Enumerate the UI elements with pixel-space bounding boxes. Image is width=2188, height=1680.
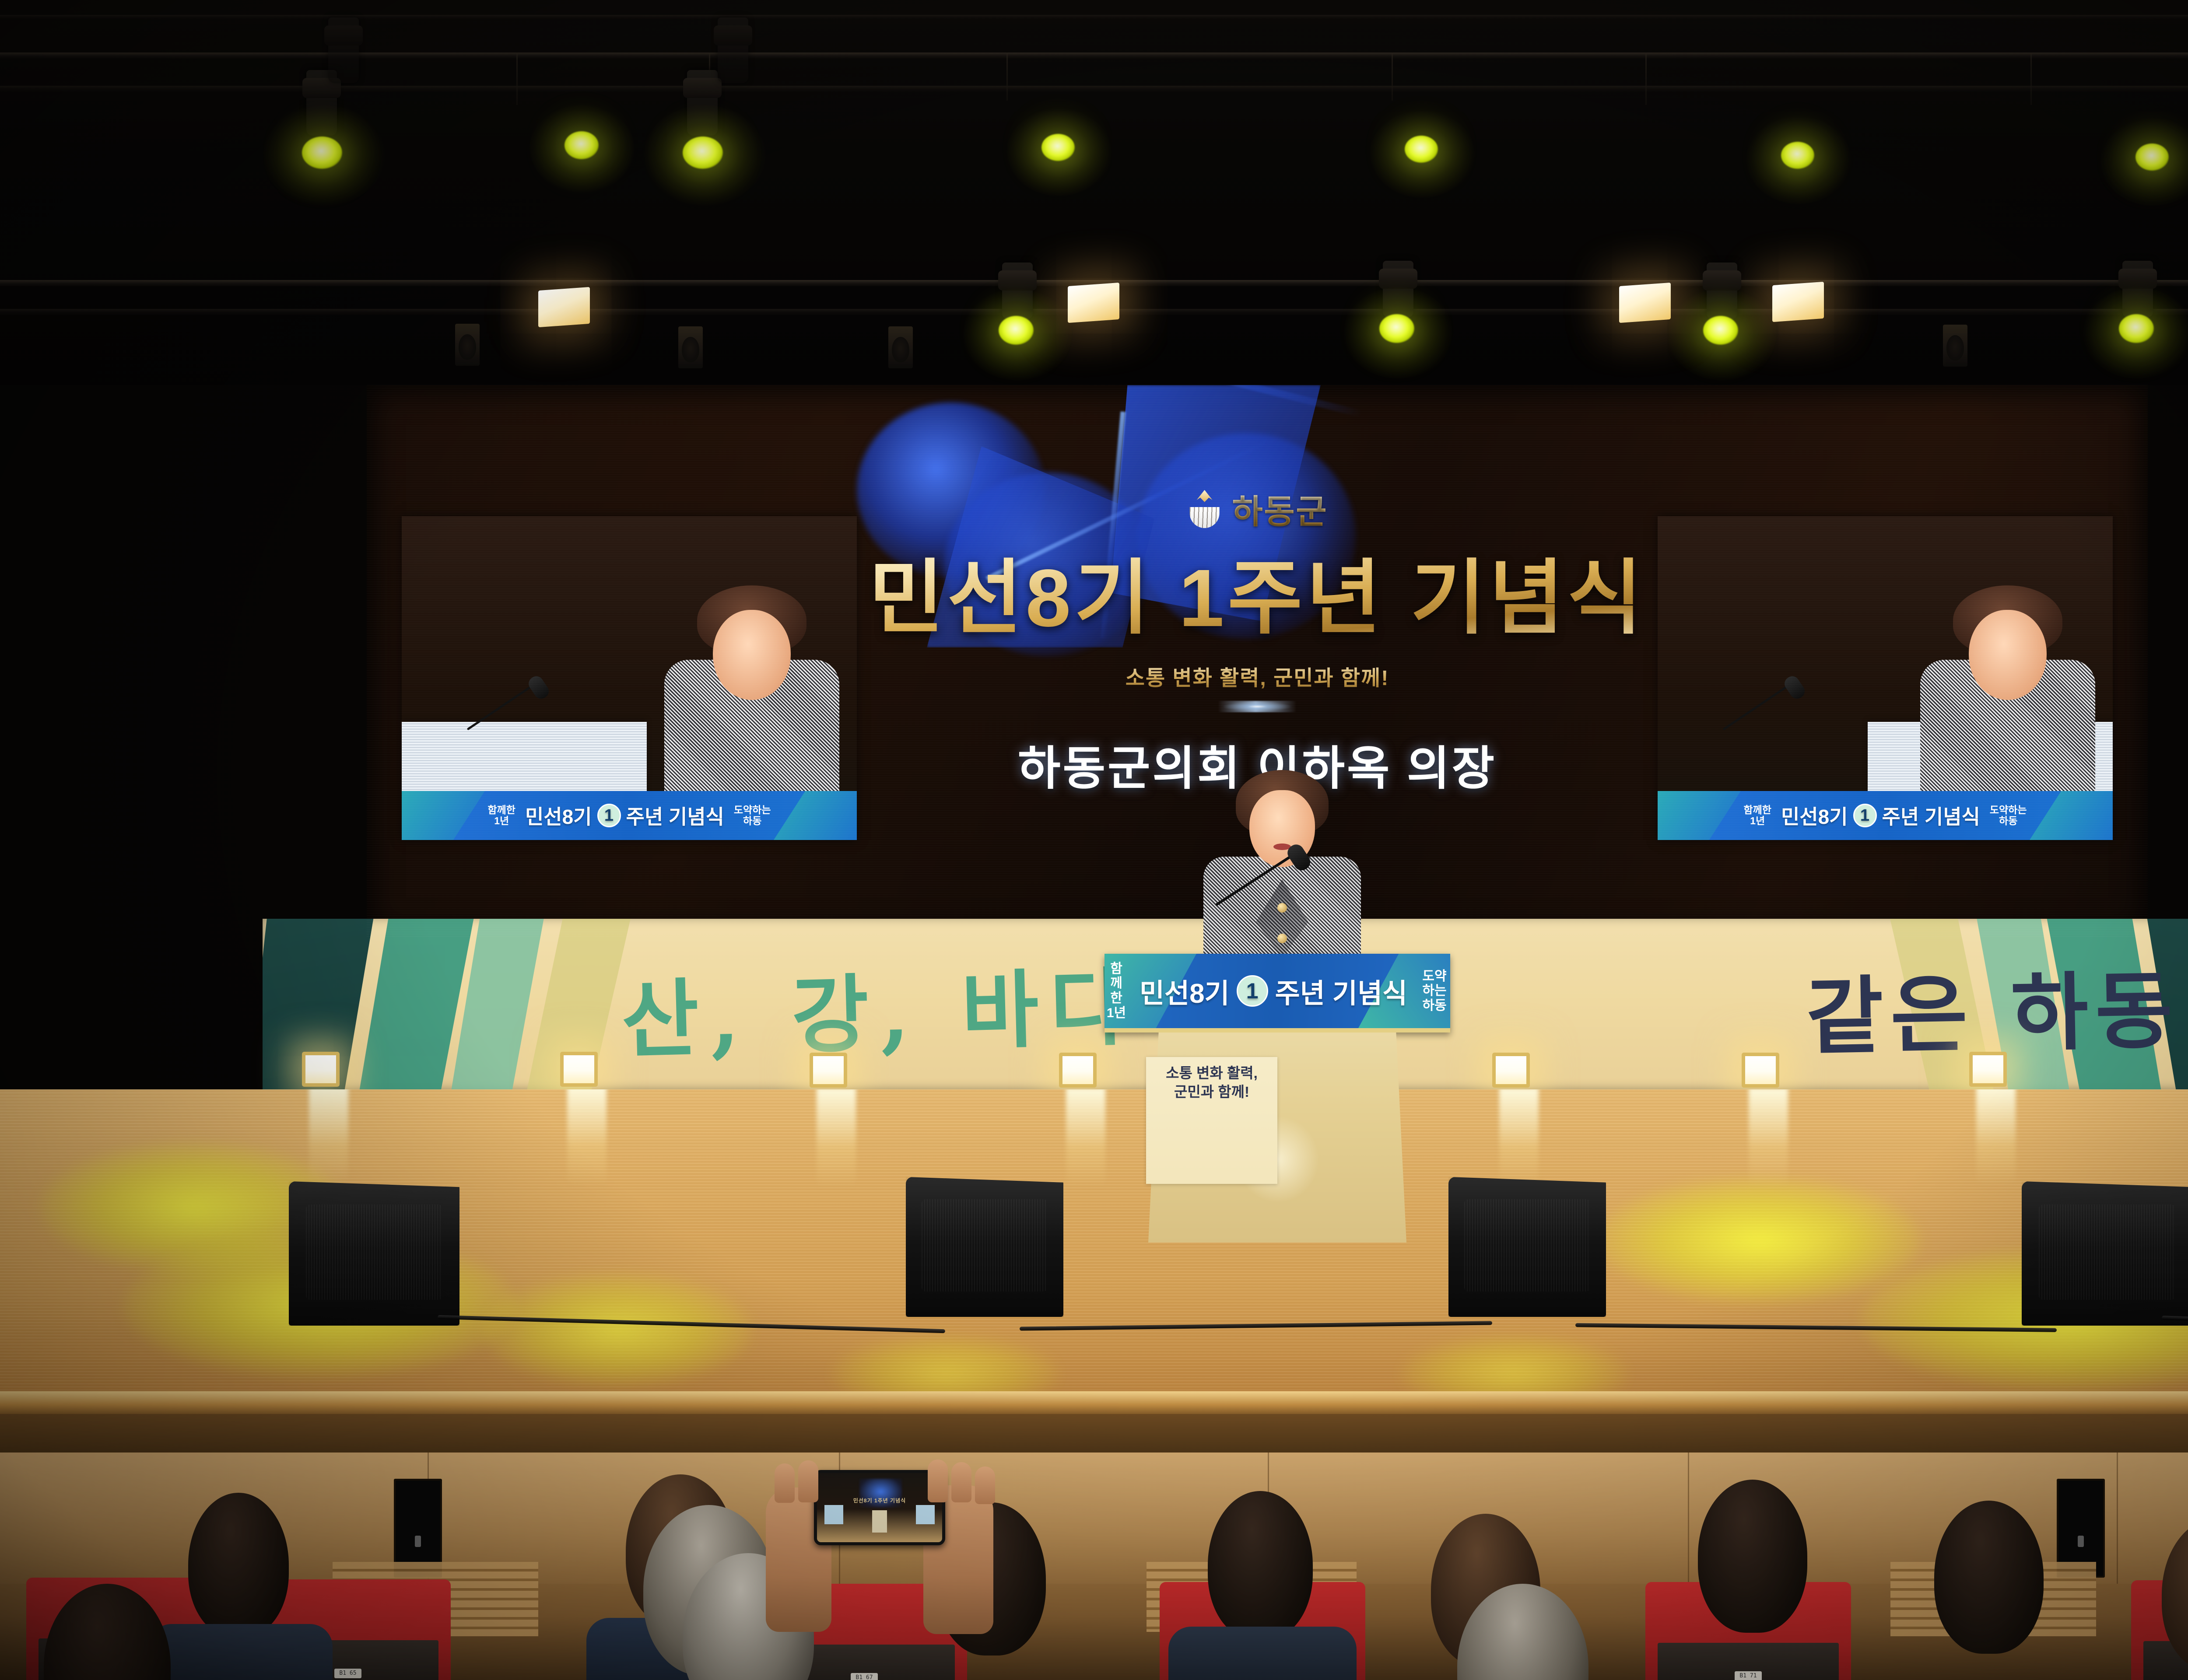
sparkle-divider-icon bbox=[1218, 701, 1297, 712]
footlight-uplight bbox=[1969, 1052, 2007, 1087]
panel-floodlight bbox=[1619, 283, 1671, 323]
banner-left-label: 함께한 1년 bbox=[1743, 805, 1771, 827]
moving-head-light bbox=[2122, 261, 2153, 318]
moving-head-light bbox=[718, 17, 748, 83]
podium-sign-banner: 함께한 1년 민선8기 1 주년 기념식 도약하는 하동 bbox=[1105, 954, 1450, 1032]
podium-front-card: 소통 변화 활력, 군민과 함께! bbox=[1146, 1057, 1277, 1184]
stage-beam-light bbox=[1781, 142, 1814, 169]
anniversary-badge: 1 bbox=[1853, 804, 1877, 827]
attendee-smartphone[interactable]: 민선8기 1주년 기념식 bbox=[814, 1470, 945, 1545]
hadong-logo-text: 하동군 bbox=[1232, 485, 1328, 533]
feed-podium-banner: 함께한 1년 민선8기 1 주년 기념식 도약하는 하동 bbox=[1658, 791, 2113, 840]
par-can-fixture bbox=[888, 326, 913, 368]
audience-shoulders bbox=[149, 1624, 333, 1680]
banner-left-label: 함께한 1년 bbox=[487, 805, 515, 827]
podium-sign-left-label: 함께한 1년 bbox=[1105, 962, 1128, 1020]
audience-head bbox=[1934, 1501, 2044, 1654]
par-can-fixture bbox=[455, 324, 480, 366]
par-can-fixture bbox=[1943, 325, 1967, 367]
anniversary-badge: 1 bbox=[597, 804, 621, 827]
hadong-emblem-icon bbox=[1187, 490, 1223, 528]
event-subtitle: 소통 변화 활력, 군민과 함께! bbox=[367, 661, 2148, 691]
footlight-uplight bbox=[1742, 1053, 1779, 1088]
hadong-county-logo: 하동군 bbox=[1187, 485, 1328, 533]
audience-head bbox=[1208, 1491, 1313, 1640]
footlight-uplight bbox=[1059, 1053, 1097, 1088]
stage-edge bbox=[0, 1391, 2188, 1416]
stage-beam-light bbox=[999, 316, 1034, 345]
banner-main-text: 민선8기 1 주년 기념식 bbox=[1781, 801, 1980, 830]
banner-right-label: 도약하는 하동 bbox=[734, 805, 771, 827]
feed-podium-banner: 함께한 1년 민선8기 1 주년 기념식 도약하는 하동 bbox=[402, 791, 857, 840]
stage-beam-light bbox=[2135, 143, 2169, 171]
stage-beam-light bbox=[683, 136, 723, 169]
moving-head-light bbox=[1707, 262, 1737, 319]
stage-monitor-speaker bbox=[289, 1181, 459, 1326]
stage-beam-light bbox=[565, 131, 599, 159]
banner-right-label: 도약하는 하동 bbox=[1990, 805, 2027, 827]
moving-head-light bbox=[1002, 262, 1033, 319]
stage-photo-scene: 하동군 민선8기 1주년 기념식 소통 변화 활력, 군민과 함께! 하동군의회… bbox=[0, 0, 2188, 1680]
moving-head-light bbox=[687, 70, 718, 136]
stage-monitor-speaker bbox=[2022, 1181, 2188, 1326]
phone-screen-preview: 민선8기 1주년 기념식 bbox=[817, 1473, 942, 1542]
anniversary-badge: 1 bbox=[1237, 975, 1268, 1007]
stage-beam-light bbox=[1041, 134, 1075, 161]
seat-number-tag: B1 65 bbox=[334, 1669, 361, 1678]
moving-head-light bbox=[328, 17, 359, 83]
footlight-uplight bbox=[1492, 1053, 1530, 1088]
speaker-at-podium bbox=[1190, 770, 1374, 958]
panel-floodlight bbox=[538, 287, 590, 327]
stage-beam-light bbox=[302, 136, 342, 169]
seat-number-tag: B1 67 bbox=[851, 1673, 878, 1680]
stage-monitor-speaker bbox=[1448, 1177, 1606, 1317]
podium-sign-right-label: 도약하는 하동 bbox=[1419, 969, 1450, 1013]
stage-beam-light bbox=[1405, 136, 1438, 163]
audience-head bbox=[188, 1493, 289, 1637]
footlight-uplight bbox=[302, 1052, 340, 1087]
par-can-fixture bbox=[678, 326, 703, 368]
phone-preview-title: 민선8기 1주년 기념식 bbox=[817, 1497, 942, 1504]
panel-floodlight bbox=[1772, 282, 1824, 322]
moving-head-light bbox=[1383, 261, 1413, 318]
podium-slogan: 소통 변화 활력, 군민과 함께! bbox=[1146, 1064, 1277, 1102]
audience-head bbox=[1698, 1480, 1807, 1633]
stage-beam-light bbox=[1703, 316, 1738, 345]
stage-beam-light bbox=[2119, 314, 2154, 343]
seat-number-tag: B1 71 bbox=[1735, 1671, 1762, 1680]
audience-area: B1 63 B1 65 B1 67 B1 69 B1 71 B1 73 bbox=[0, 1452, 2188, 1680]
panel-floodlight bbox=[1068, 283, 1119, 323]
audience-shoulders bbox=[1168, 1627, 1357, 1680]
footlight-uplight bbox=[560, 1052, 598, 1087]
podium-sign-main-text: 민선8기 1 주년 기념식 bbox=[1140, 971, 1407, 1011]
event-main-title: 민선8기 1주년 기념식 bbox=[367, 556, 2148, 641]
footlight-uplight bbox=[810, 1053, 847, 1088]
stage-beam-light bbox=[1379, 314, 1414, 343]
ceiling-lighting-rig bbox=[0, 0, 2188, 385]
banner-main-text: 민선8기 1 주년 기념식 bbox=[525, 801, 724, 830]
stage-monitor-speaker bbox=[906, 1177, 1063, 1317]
